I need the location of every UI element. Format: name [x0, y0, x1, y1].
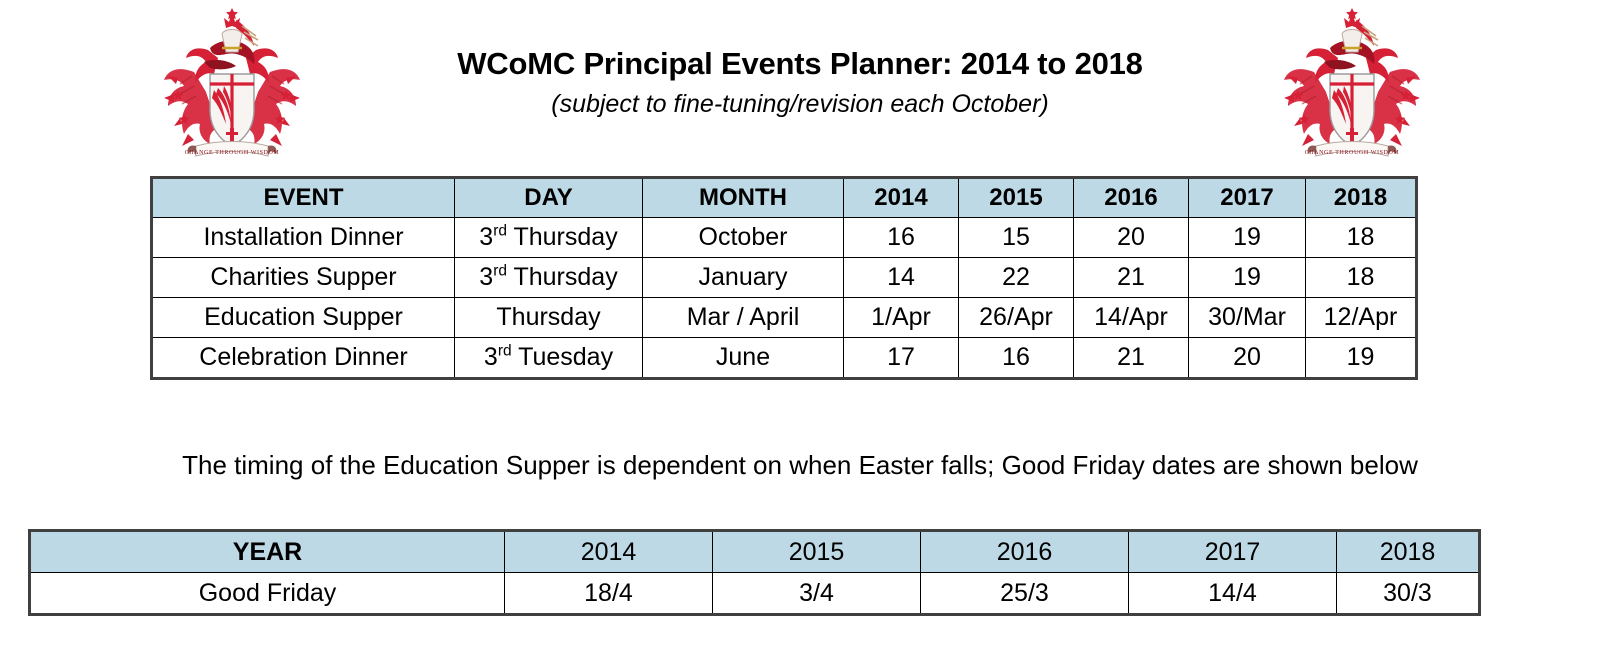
row-label-good-friday: Good Friday [30, 573, 505, 615]
cell-2014: 17 [844, 338, 959, 379]
column-header-2015: 2015 [959, 178, 1074, 218]
column-header-day: DAY [455, 178, 643, 218]
cell-event: Celebration Dinner [152, 338, 455, 379]
good-friday-table: YEAR 2014 2015 2016 2017 2018 Good Frida… [28, 529, 1481, 616]
cell-2017: 19 [1189, 218, 1306, 258]
column-header-2018: 2018 [1337, 531, 1480, 573]
column-header-2015: 2015 [713, 531, 921, 573]
planner-header-row: EVENT DAY MONTH 2014 2015 2016 2017 2018 [152, 178, 1417, 218]
header-titles: WCoMC Principal Events Planner: 2014 to … [330, 46, 1270, 122]
day-ordinal-suffix: rd [493, 223, 507, 240]
cell-good-friday-2017: 14/4 [1129, 573, 1337, 615]
cell-2018: 18 [1306, 218, 1417, 258]
page-title: WCoMC Principal Events Planner: 2014 to … [330, 46, 1270, 83]
cell-day: 3rd Tuesday [455, 338, 643, 379]
svg-text:CHANGE THROUGH WISDOM: CHANGE THROUGH WISDOM [1305, 150, 1400, 156]
cell-day: Thursday [455, 298, 643, 338]
cell-event: Installation Dinner [152, 218, 455, 258]
cell-2014: 14 [844, 258, 959, 298]
day-ordinal: 3 [479, 263, 493, 291]
column-header-2016: 2016 [921, 531, 1129, 573]
cell-good-friday-2016: 25/3 [921, 573, 1129, 615]
crest-shield [210, 74, 254, 146]
column-header-month: MONTH [643, 178, 844, 218]
page-subtitle: (subject to fine-tuning/revision each Oc… [330, 87, 1270, 122]
cell-event: Education Supper [152, 298, 455, 338]
day-name: Thursday [496, 303, 600, 331]
cell-good-friday-2015: 3/4 [713, 573, 921, 615]
cell-month: October [643, 218, 844, 258]
table-row: Installation Dinner 3rd Thursday October… [152, 218, 1417, 258]
cell-2015: 15 [959, 218, 1074, 258]
cell-2016: 21 [1074, 338, 1189, 379]
day-ordinal-suffix: rd [498, 343, 512, 360]
cell-2015: 16 [959, 338, 1074, 379]
cell-event: Charities Supper [152, 258, 455, 298]
column-header-event: EVENT [152, 178, 455, 218]
cell-2016: 21 [1074, 258, 1189, 298]
day-name: Tuesday [512, 343, 613, 371]
table-row: Charities Supper 3rd Thursday January 14… [152, 258, 1417, 298]
column-header-2014: 2014 [844, 178, 959, 218]
cell-month: January [643, 258, 844, 298]
column-header-2018: 2018 [1306, 178, 1417, 218]
cell-2018: 19 [1306, 338, 1417, 379]
column-header-year: YEAR [30, 531, 505, 573]
coat-of-arms-right: CHANGE THROUGH WISDOM [1268, 6, 1436, 166]
column-header-2017: 2017 [1129, 531, 1337, 573]
crest-motto-scroll: CHANGE THROUGH WISDOM [185, 142, 280, 157]
cell-month: Mar / April [643, 298, 844, 338]
cell-month: June [643, 338, 844, 379]
cell-2014: 1/Apr [844, 298, 959, 338]
cell-2014: 16 [844, 218, 959, 258]
day-ordinal-suffix: rd [493, 263, 507, 280]
cell-2017: 20 [1189, 338, 1306, 379]
cell-good-friday-2018: 30/3 [1337, 573, 1480, 615]
cell-2016: 20 [1074, 218, 1189, 258]
cell-2017: 19 [1189, 258, 1306, 298]
day-ordinal: 3 [479, 223, 493, 251]
cell-good-friday-2014: 18/4 [505, 573, 713, 615]
cell-day: 3rd Thursday [455, 218, 643, 258]
column-header-2014: 2014 [505, 531, 713, 573]
cell-2015: 26/Apr [959, 298, 1074, 338]
principal-events-table: EVENT DAY MONTH 2014 2015 2016 2017 2018… [150, 176, 1418, 380]
coat-of-arms-left: CHANGE THROUGH WISDOM [148, 6, 316, 166]
table-row: Good Friday 18/4 3/4 25/3 14/4 30/3 [30, 573, 1480, 615]
svg-text:CHANGE THROUGH WISDOM: CHANGE THROUGH WISDOM [185, 150, 280, 156]
cell-2017: 30/Mar [1189, 298, 1306, 338]
cell-2018: 18 [1306, 258, 1417, 298]
cell-day: 3rd Thursday [455, 258, 643, 298]
column-header-2016: 2016 [1074, 178, 1189, 218]
table-row: Celebration Dinner 3rd Tuesday June 17 1… [152, 338, 1417, 379]
day-ordinal: 3 [484, 343, 498, 371]
goodfriday-header-row: YEAR 2014 2015 2016 2017 2018 [30, 531, 1480, 573]
cell-2016: 14/Apr [1074, 298, 1189, 338]
column-header-2017: 2017 [1189, 178, 1306, 218]
easter-note: The timing of the Education Supper is de… [0, 450, 1600, 481]
cell-2015: 22 [959, 258, 1074, 298]
day-name: Thursday [507, 263, 618, 291]
day-name: Thursday [507, 223, 618, 251]
table-row: Education Supper Thursday Mar / April 1/… [152, 298, 1417, 338]
cell-2018: 12/Apr [1306, 298, 1417, 338]
